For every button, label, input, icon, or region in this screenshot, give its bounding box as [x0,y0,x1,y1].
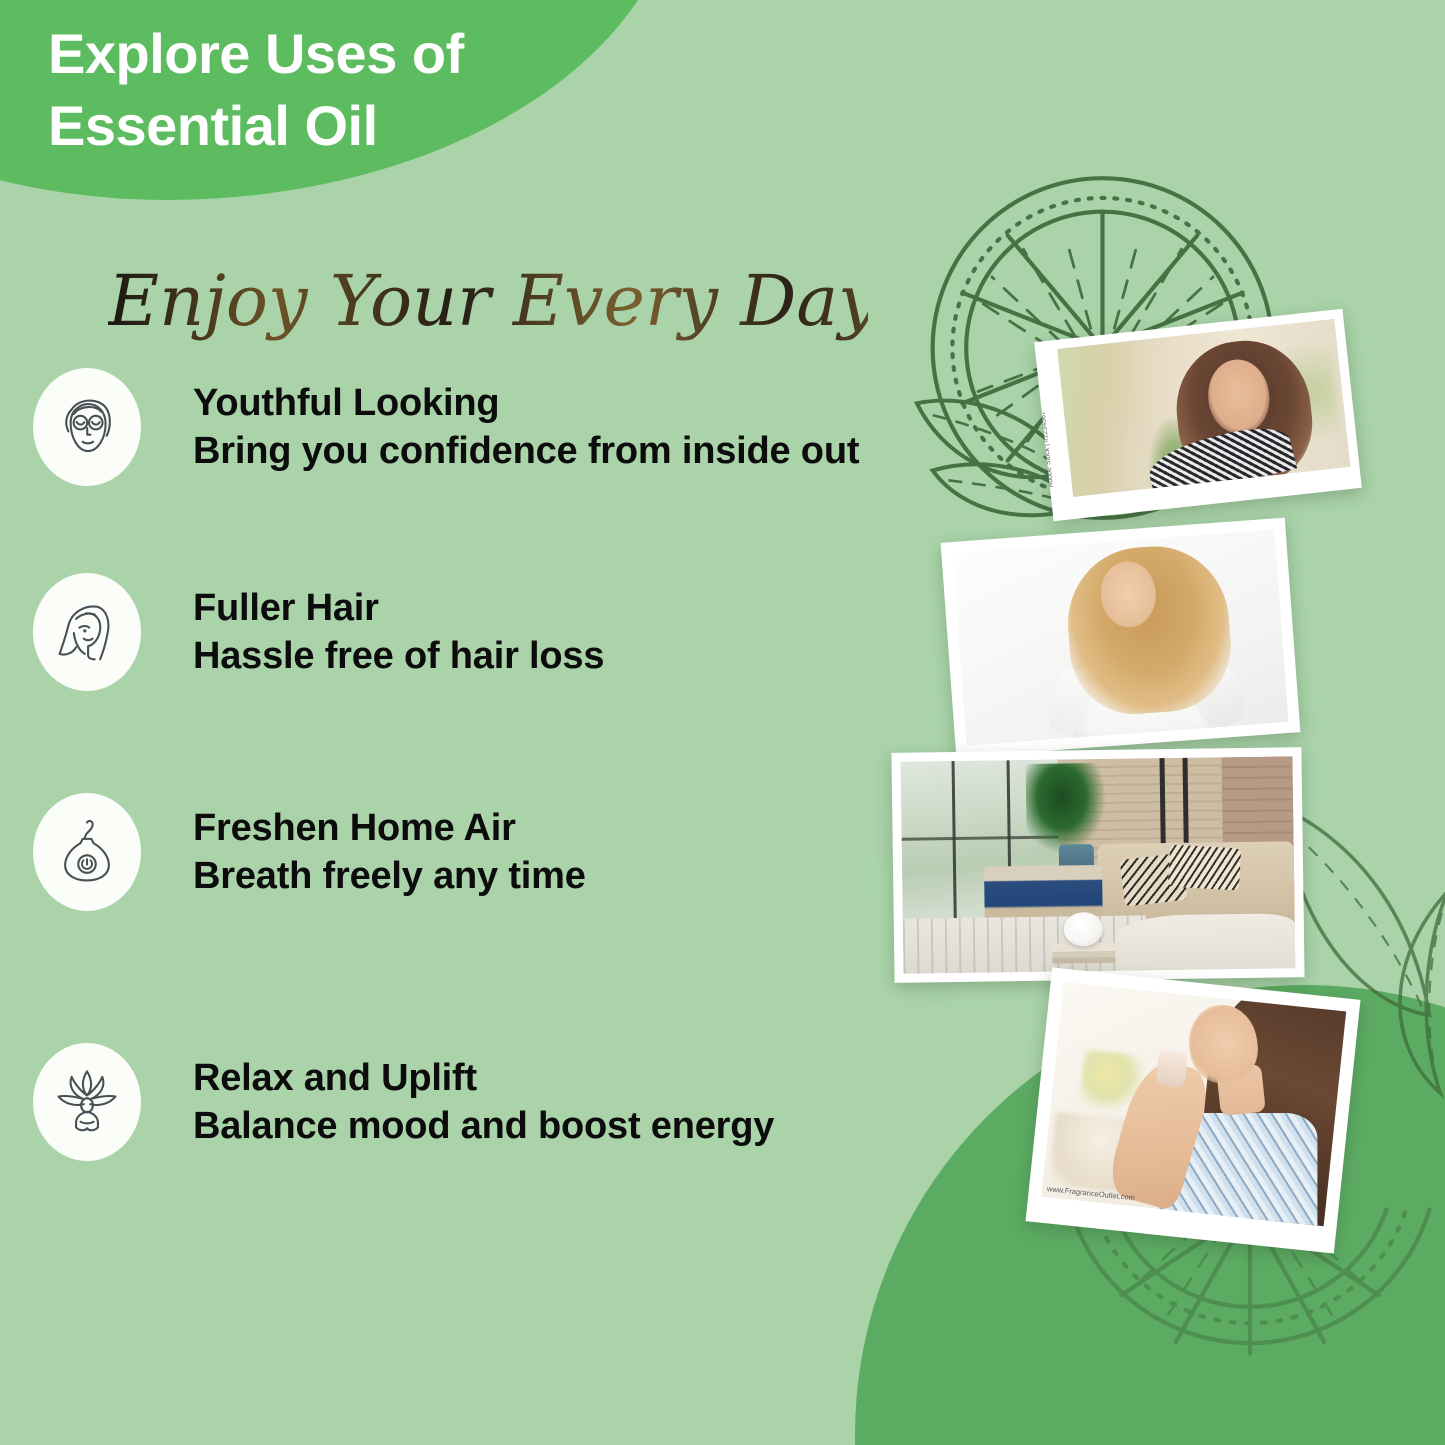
feature-text-freshen-home-air: Freshen Home Air Breath freely any time [193,806,586,899]
infographic-poster: Explore Uses of Essential Oil Enjoy Your… [0,0,1445,1445]
feature-text-fuller-hair: Fuller Hair Hassle free of hair loss [193,586,604,679]
feature-title: Relax and Uplift [193,1056,774,1101]
feature-subtitle: Balance mood and boost energy [193,1104,774,1149]
feature-subtitle: Breath freely any time [193,854,586,899]
photo-long-wavy-hair-image [952,529,1288,745]
long-hair-profile-icon [52,597,122,667]
photo-perfume-spray: www.FragranceOutlet.com [1026,967,1361,1253]
tagline-svg: Enjoy Your Every Day [108,255,868,350]
feature-text-youthful-looking: Youthful Looking Bring you confidence fr… [193,381,859,474]
feature-row-relax-and-uplift: Relax and Uplift Balance mood and boost … [33,1043,774,1161]
aroma-diffuser-icon [52,817,122,887]
feature-title: Fuller Hair [193,586,604,631]
feature-text-relax-and-uplift: Relax and Uplift Balance mood and boost … [193,1056,774,1149]
page-title: Explore Uses of Essential Oil [48,18,668,161]
lotus-meditation-icon-badge [33,1043,141,1161]
feature-title: Youthful Looking [193,381,859,426]
feature-row-youthful-looking: Youthful Looking Bring you confidence fr… [33,368,859,486]
photo-smiling-woman: Adobe Stock | #1234567 [1034,309,1362,521]
photo-long-wavy-hair [941,518,1301,758]
aroma-diffuser-icon-badge [33,793,141,911]
photo-living-room-image [901,756,1296,973]
feature-subtitle: Bring you confidence from inside out [193,429,859,474]
tagline-script: Enjoy Your Every Day [108,255,868,350]
lotus-meditation-icon [52,1067,122,1137]
tagline-text: Enjoy Your Every Day [108,260,868,342]
facial-mask-icon [52,392,122,462]
feature-row-fuller-hair: Fuller Hair Hassle free of hair loss [33,573,604,691]
photo-smiling-woman-image [1057,319,1350,497]
long-hair-profile-icon-badge [33,573,141,691]
photo-living-room-diffuser [891,747,1304,983]
feature-title: Freshen Home Air [193,806,586,851]
feature-row-freshen-home-air: Freshen Home Air Breath freely any time [33,793,586,911]
facial-mask-icon-badge [33,368,141,486]
photo-watermark: Adobe Stock | #1234567 [1040,411,1055,488]
feature-subtitle: Hassle free of hair loss [193,634,604,679]
